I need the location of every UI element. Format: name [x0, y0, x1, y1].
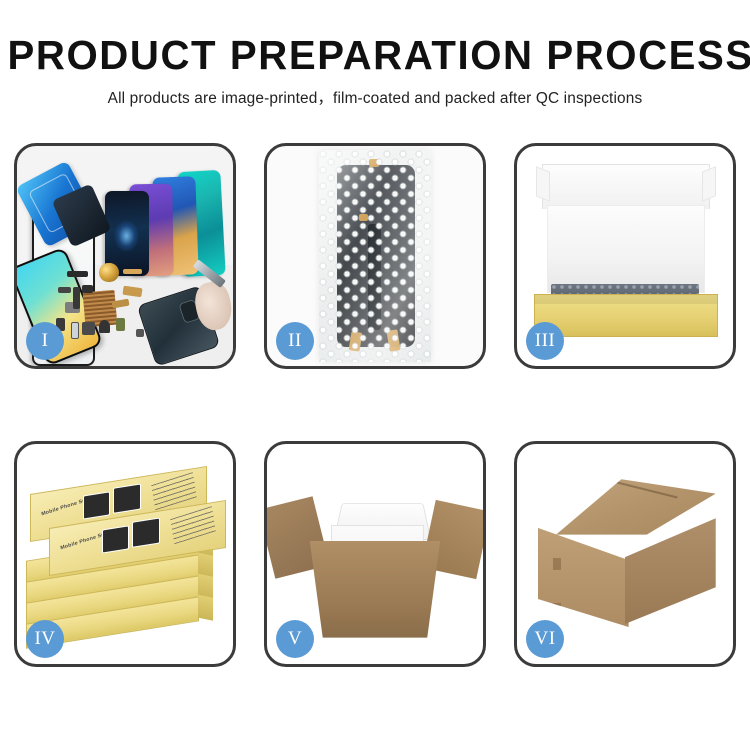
- box-spec-text: [171, 506, 216, 544]
- retail-box-stack-icon: Mobile Phone Spare Parts Mobile Phone Sp…: [26, 466, 225, 642]
- tape-tab-icon: [553, 603, 561, 614]
- spare-part-icon: [67, 271, 89, 277]
- step-badge-6: VI: [526, 620, 564, 658]
- tape-tab-icon: [553, 558, 561, 570]
- box-screen-print-icon: [103, 525, 129, 553]
- carton-top-face: [534, 479, 715, 534]
- process-step-2[interactable]: II: [264, 143, 486, 369]
- shipping-carton-open-icon: [297, 510, 453, 638]
- spare-part-icon: [82, 322, 95, 335]
- plastic-sheen: [319, 150, 431, 361]
- foam-sheet-icon: [547, 205, 705, 293]
- page-title: PRODUCT PREPARATION PROCESS: [8, 34, 743, 77]
- process-step-6[interactable]: VI: [514, 441, 736, 667]
- spare-part-icon: [99, 320, 110, 333]
- carton-lid-icon: [542, 164, 711, 210]
- step-badge-1: I: [26, 322, 64, 360]
- sealed-carton-icon: [534, 479, 715, 633]
- box-screen-print-icon: [113, 484, 141, 514]
- spare-part-icon: [71, 322, 79, 339]
- step-badge-5: V: [276, 620, 314, 658]
- box-screen-print-icon: [133, 517, 161, 547]
- carton-tray-icon: [534, 294, 717, 337]
- spare-part-icon: [82, 285, 93, 294]
- carton-body-icon: [310, 541, 441, 638]
- carton-seam: [568, 469, 678, 498]
- spare-part-icon: [136, 329, 145, 338]
- open-carton-icon: [534, 164, 715, 336]
- step-badge-2: II: [276, 322, 314, 360]
- step-badge-4: IV: [26, 620, 64, 658]
- process-step-4[interactable]: Mobile Phone Spare Parts Mobile Phone Sp…: [14, 441, 236, 667]
- page-header: PRODUCT PREPARATION PROCESS All products…: [0, 34, 750, 108]
- process-step-1[interactable]: I: [14, 143, 236, 369]
- bubble-bag-icon: [319, 150, 431, 361]
- product-preparation-process-page: PRODUCT PREPARATION PROCESS All products…: [0, 0, 750, 750]
- spare-part-icon: [123, 269, 142, 274]
- spare-part-icon: [73, 287, 79, 309]
- process-step-3[interactable]: III: [514, 143, 736, 369]
- wireless-coil-icon: [99, 263, 118, 283]
- spare-part-icon: [116, 318, 125, 331]
- step-badge-3: III: [526, 322, 564, 360]
- page-subtitle: All products are image-printed，film-coat…: [0, 86, 750, 108]
- carton-left-face: [538, 519, 629, 627]
- spare-part-icon: [58, 287, 71, 294]
- process-step-grid: I II: [14, 143, 736, 676]
- box-screen-print-icon: [83, 492, 109, 520]
- process-step-5[interactable]: V: [264, 441, 486, 667]
